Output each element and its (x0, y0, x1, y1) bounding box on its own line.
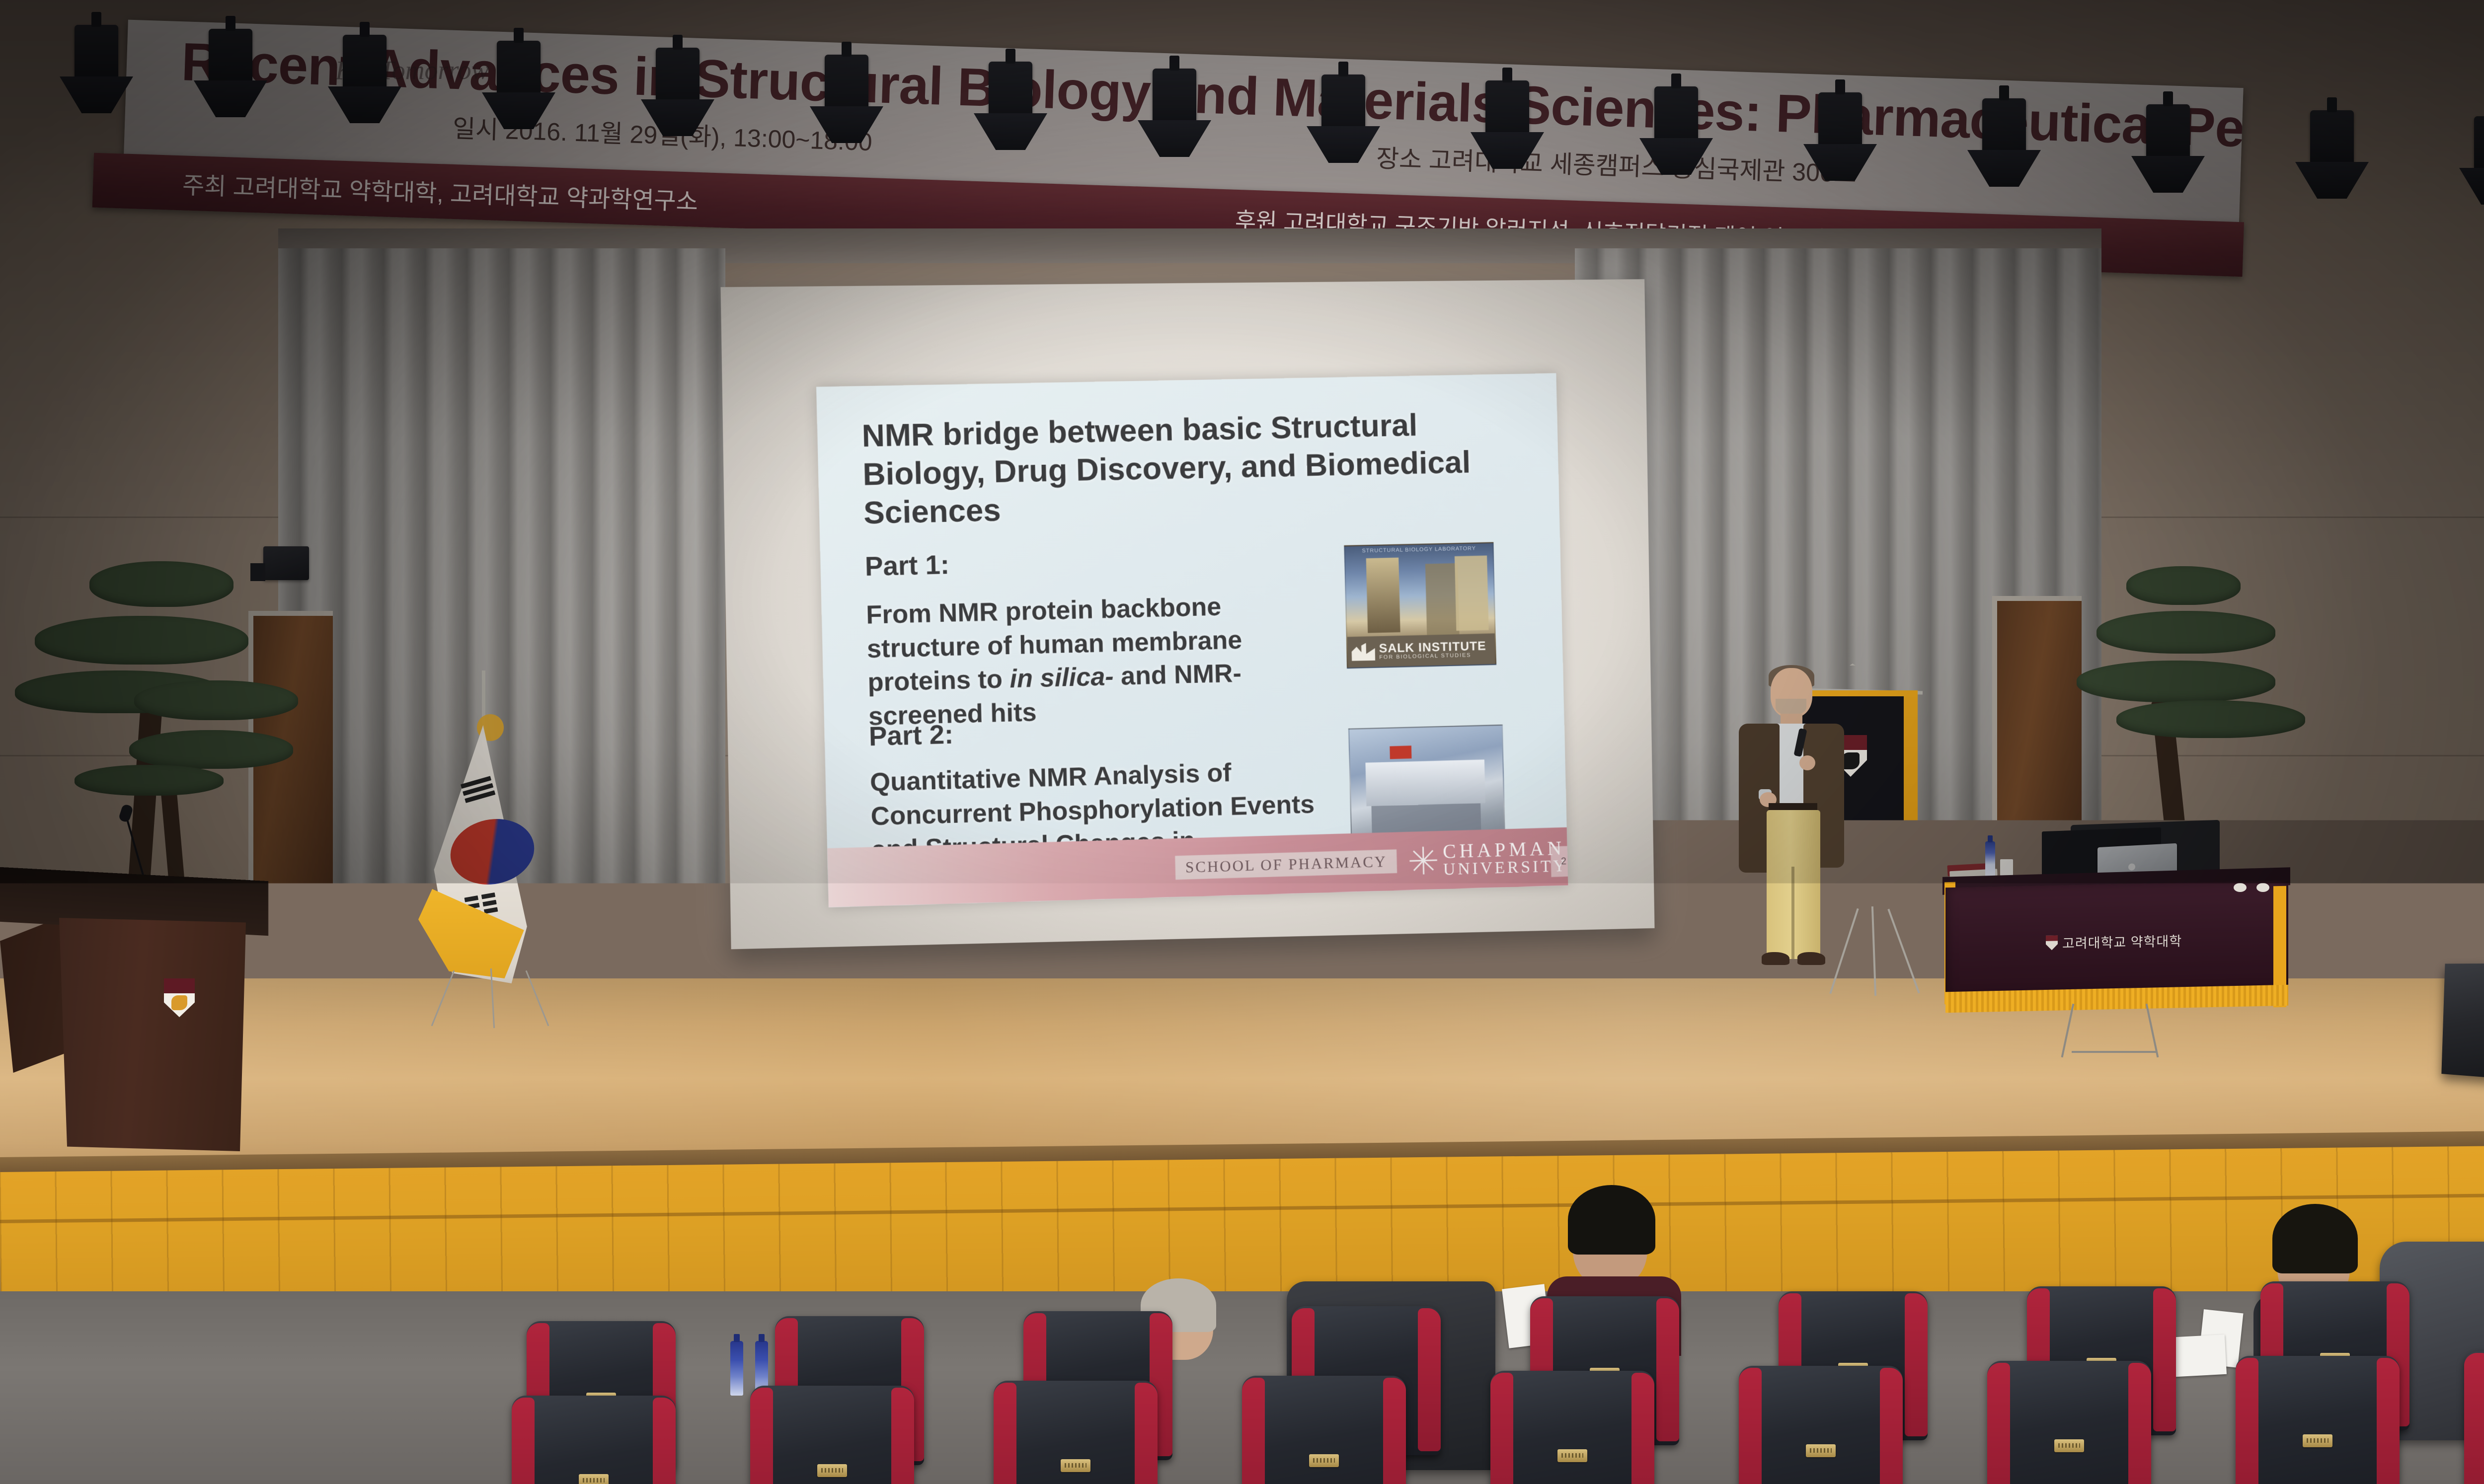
seat-number-plate (1309, 1454, 1339, 1467)
school-of-pharmacy-label: SCHOOL OF PHARMACY (1175, 849, 1397, 880)
decorative-pine-tree-left (15, 546, 323, 909)
table-legs (2062, 1003, 2181, 1058)
salk-mark-icon (1351, 643, 1375, 661)
stage-light (1321, 74, 1365, 138)
lectern-front (47, 918, 246, 1151)
auditorium-seat[interactable] (1739, 1366, 1903, 1484)
speakers-table: 고려대학교 약학대학 (1938, 834, 2315, 1043)
auditorium-seat[interactable] (750, 1386, 914, 1484)
banner-host-line: 주최 고려대학교 약학대학, 고려대학교 약과학연구소 (182, 165, 699, 217)
salk-logo-bar: SALK INSTITUTE FOR BIOLOGICAL STUDIES (1347, 633, 1496, 668)
stage-light (1485, 80, 1529, 144)
stage-light (656, 48, 699, 111)
chapman-mark-icon (1409, 846, 1438, 875)
seat-number-plate (817, 1464, 847, 1477)
projection-screen: NMR bridge between basic Structural Biol… (721, 279, 1655, 949)
presenter-speaking (1734, 668, 1848, 1016)
water-bottle (1985, 841, 1995, 880)
stage-light (209, 29, 252, 92)
flag-tripod-stand (437, 968, 551, 1028)
slide-page-number: 2 (1551, 846, 1568, 877)
seat-number-plate (579, 1474, 609, 1484)
paper-cup (2000, 859, 2013, 877)
presenter-shoe-left (1762, 952, 1789, 965)
slide-part1-label: Part 1: (864, 549, 950, 582)
slide-part1-body: From NMR protein backbone structure of h… (865, 589, 1303, 734)
stage-light (75, 25, 118, 88)
presenter-shoe-right (1797, 952, 1825, 965)
slide-part1-italic: in silica- (1009, 662, 1114, 693)
table-microphones (2234, 883, 2293, 894)
attendee-center (1560, 1182, 1664, 1311)
chapman-wordmark: CHAPMAN UNIVERSITY (1443, 838, 1568, 879)
auditorium-seat[interactable] (2236, 1356, 2400, 1484)
stage-light (1982, 98, 2026, 162)
slide-part2-label: Part 2: (868, 719, 953, 752)
seat-number-plate (2054, 1439, 2084, 1452)
presenter-beard (1776, 699, 1806, 716)
stage-light (343, 35, 387, 98)
chapman-line2: UNIVERSITY (1443, 858, 1568, 878)
auditorium-seat[interactable] (1490, 1371, 1654, 1484)
south-korea-flag (407, 670, 571, 1018)
stage-light (1818, 92, 1862, 156)
seat-number-plate (1557, 1449, 1587, 1462)
stage-light (2146, 104, 2190, 168)
floor-monitor-speaker (2441, 963, 2484, 1082)
lectern (0, 874, 268, 1152)
salk-logo-text: SALK INSTITUTE FOR BIOLOGICAL STUDIES (1379, 640, 1487, 661)
auditorium-seat[interactable] (2464, 1351, 2484, 1484)
banner-tripod-stand (1843, 906, 1928, 996)
auditorium-seat[interactable] (1987, 1361, 2151, 1484)
auditorium-seat[interactable] (1242, 1376, 1406, 1484)
auditorium-scene: Recent Advances in Structural Biology an… (0, 0, 2484, 1484)
table-skirt-logo: 고려대학교 약학대학 (2046, 930, 2182, 953)
seat-number-plate (1806, 1444, 1836, 1457)
salk-institute-image: STRUCTURAL BIOLOGY LABORATORY SALK INSTI… (1344, 542, 1496, 669)
presentation-slide: NMR bridge between basic Structural Biol… (816, 373, 1568, 907)
seat-number-plate (1061, 1459, 1090, 1472)
stage-light (989, 62, 1032, 125)
stage-light (1654, 86, 1698, 150)
banner-place-line: 장소 고려대학교 세종캠퍼스 농심국제관 306호 (1376, 139, 1857, 190)
stage-light (825, 55, 868, 118)
table-crest-icon (2046, 935, 2058, 951)
water-bottle (730, 1341, 743, 1396)
chapman-university-logo: CHAPMAN UNIVERSITY (1409, 838, 1568, 880)
stage-light (2474, 116, 2484, 180)
table-logo-text: 고려대학교 약학대학 (2062, 930, 2182, 952)
presenter-right-hand (1799, 755, 1815, 770)
auditorium-seat[interactable] (994, 1381, 1158, 1484)
stage-light (2310, 110, 2354, 174)
auditorium-seat[interactable] (512, 1396, 676, 1484)
seat-number-plate (2303, 1434, 2332, 1447)
stage-light (1153, 69, 1196, 132)
slide-title: NMR bridge between basic Structural Biol… (861, 404, 1520, 532)
salk-image-header: STRUCTURAL BIOLOGY LABORATORY (1345, 545, 1493, 555)
stage-light (497, 41, 541, 104)
